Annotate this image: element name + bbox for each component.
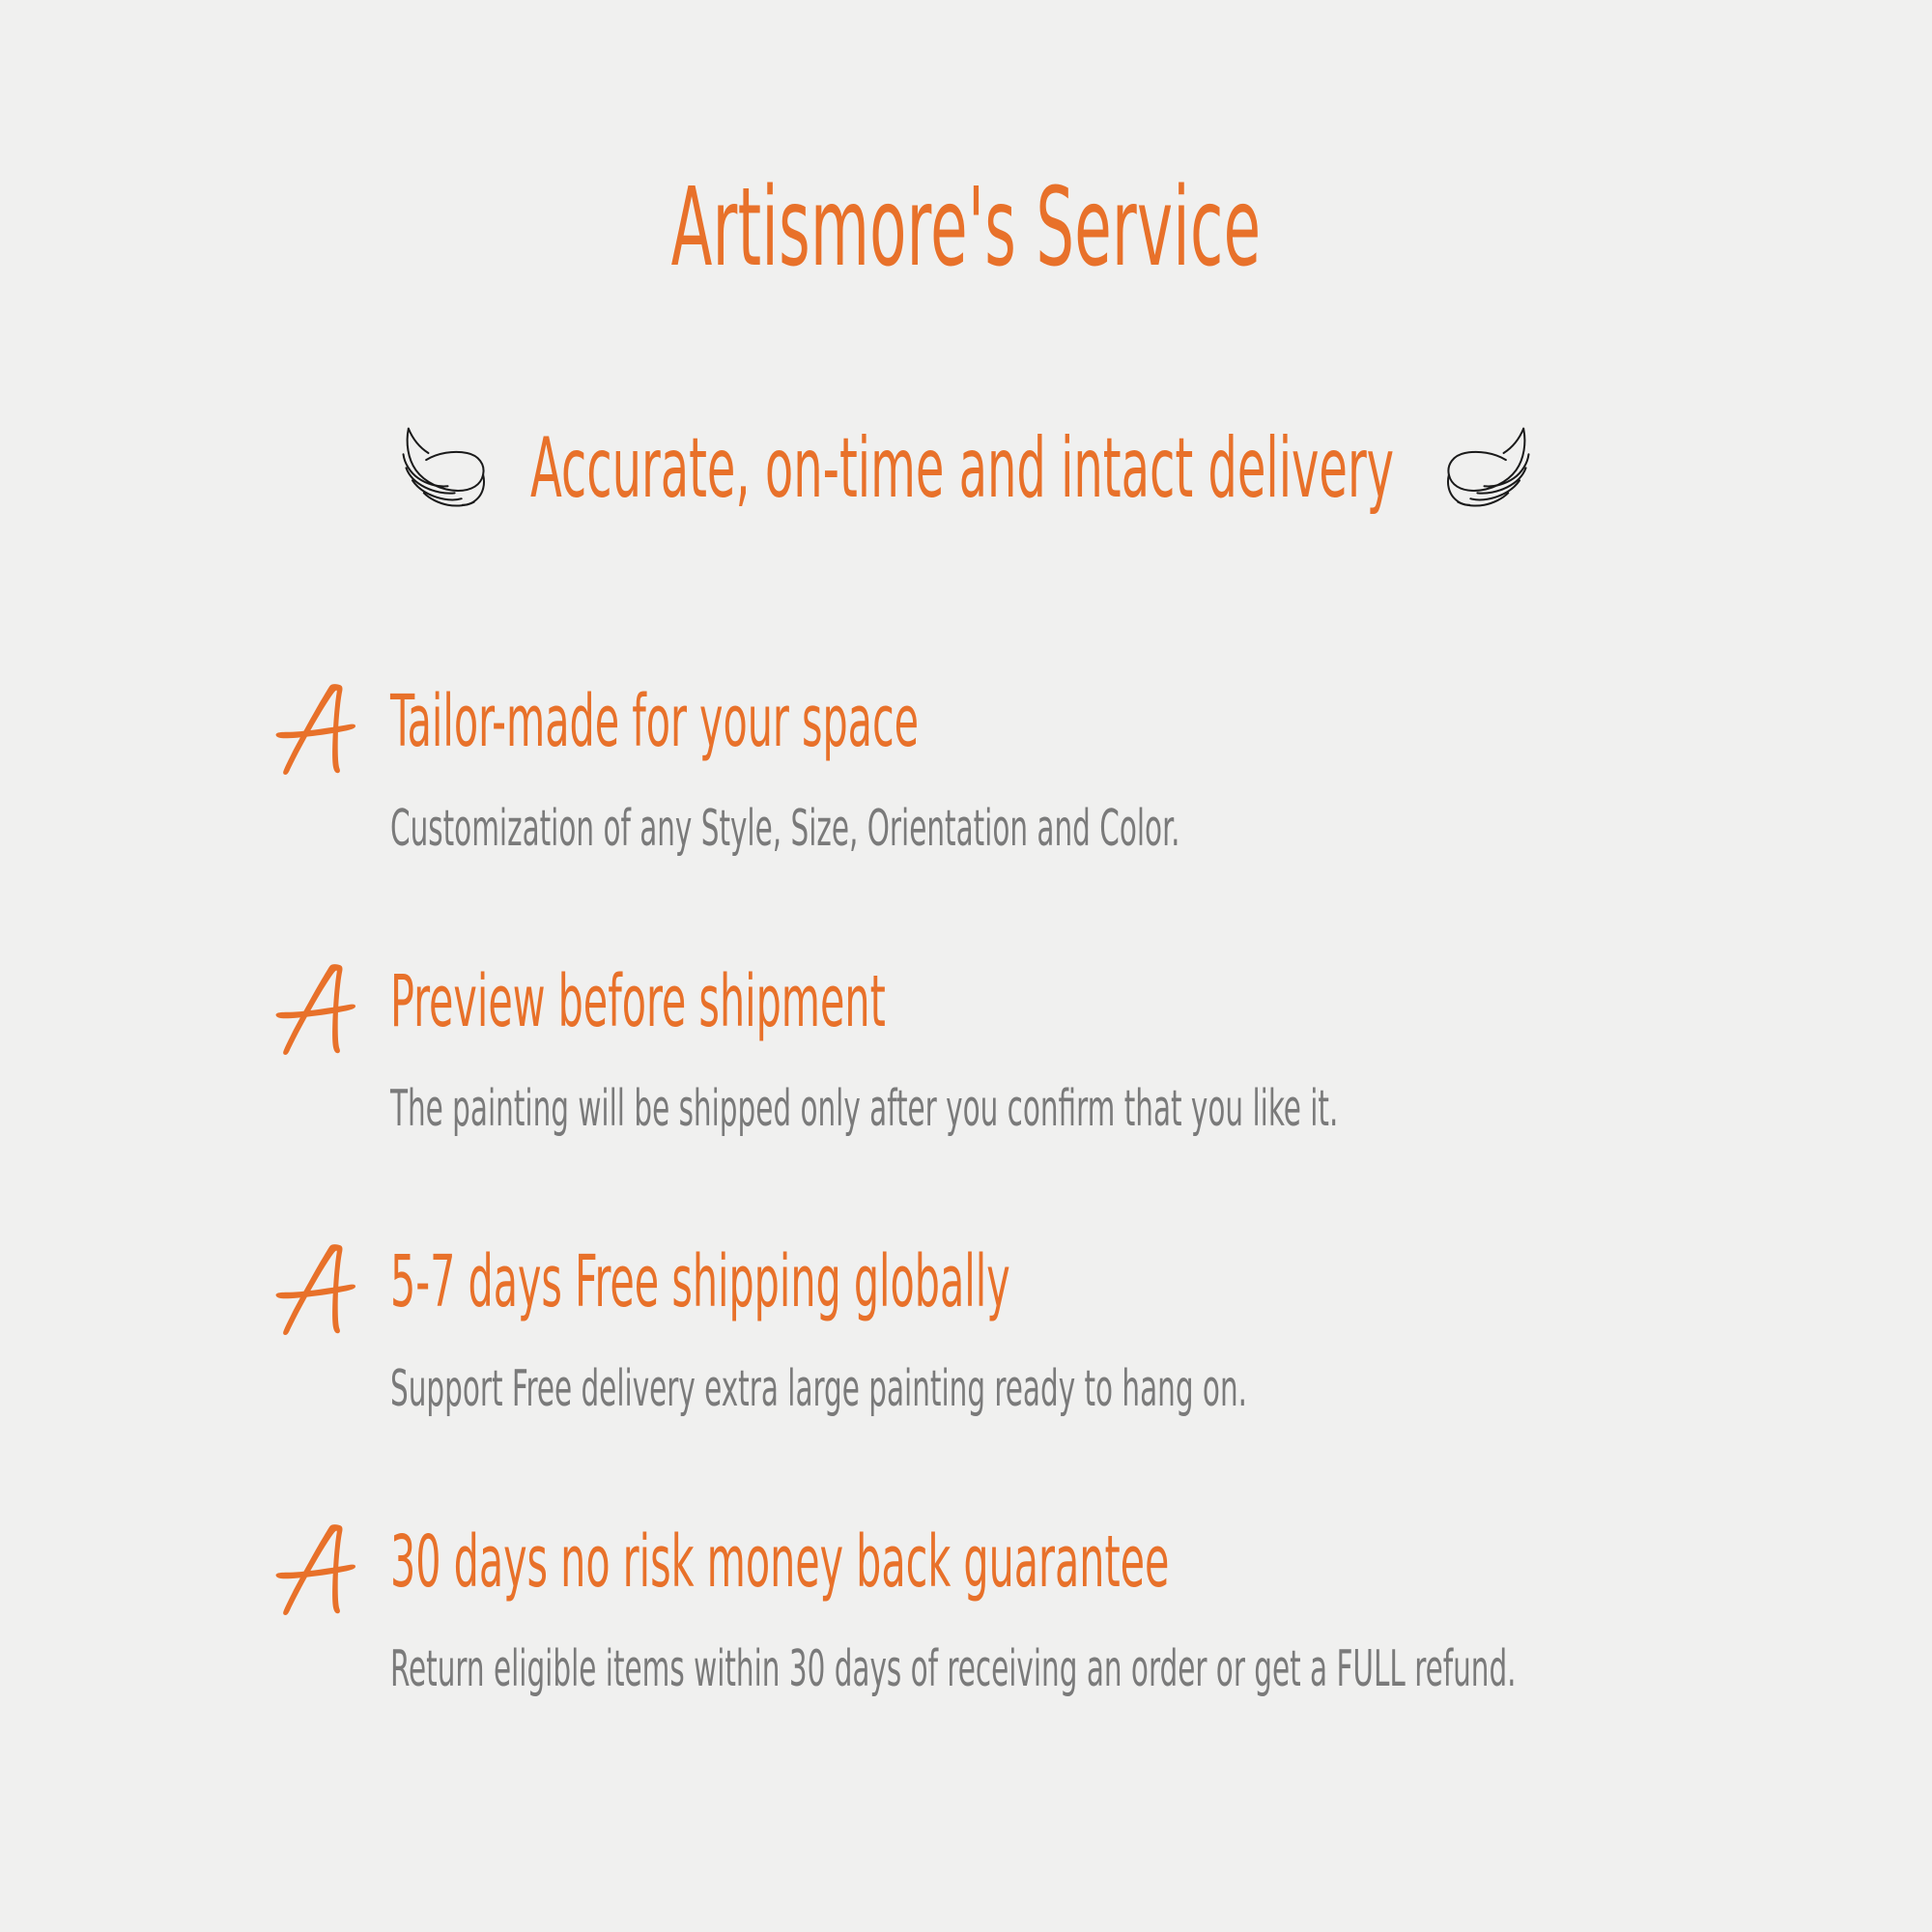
wing-icon [1431, 409, 1545, 523]
feature-title: 5-7 days Free shipping globally [390, 1246, 1010, 1318]
feature-list: Tailor-made for your space Customization… [0, 676, 1932, 1797]
feature-description: Return eligible items within 30 days of … [390, 1644, 1517, 1694]
feature-heading-row: Preview before shipment [0, 956, 1932, 1070]
feature-heading-row: Tailor-made for your space [0, 676, 1932, 790]
service-info-page: Artismore's Service Accurate, on-time an… [0, 0, 1932, 1932]
list-item: 30 days no risk money back guarantee Ret… [0, 1517, 1932, 1797]
feature-description: The painting will be shipped only after … [390, 1084, 1338, 1134]
feature-heading-row: 5-7 days Free shipping globally [0, 1236, 1932, 1350]
list-item: 5-7 days Free shipping globally Support … [0, 1236, 1932, 1517]
page-subtitle: Accurate, on-time and intact delivery [530, 427, 1394, 510]
wing-icon [387, 409, 501, 523]
feature-heading-row: 30 days no risk money back guarantee [0, 1517, 1932, 1631]
script-a-icon [274, 1522, 357, 1623]
list-item: Tailor-made for your space Customization… [0, 676, 1932, 956]
list-item: Preview before shipment The painting wil… [0, 956, 1932, 1236]
feature-description: Customization of any Style, Size, Orient… [390, 804, 1180, 854]
script-a-icon [274, 962, 357, 1063]
feature-title: 30 days no risk money back guarantee [390, 1526, 1169, 1598]
subtitle-row: Accurate, on-time and intact delivery [0, 401, 1932, 536]
feature-description: Support Free delivery extra large painti… [390, 1364, 1247, 1414]
script-a-icon [274, 1242, 357, 1343]
page-title: Artismore's Service [367, 172, 1565, 286]
feature-title: Tailor-made for your space [390, 686, 919, 757]
script-a-icon [274, 682, 357, 782]
feature-title: Preview before shipment [390, 966, 886, 1037]
